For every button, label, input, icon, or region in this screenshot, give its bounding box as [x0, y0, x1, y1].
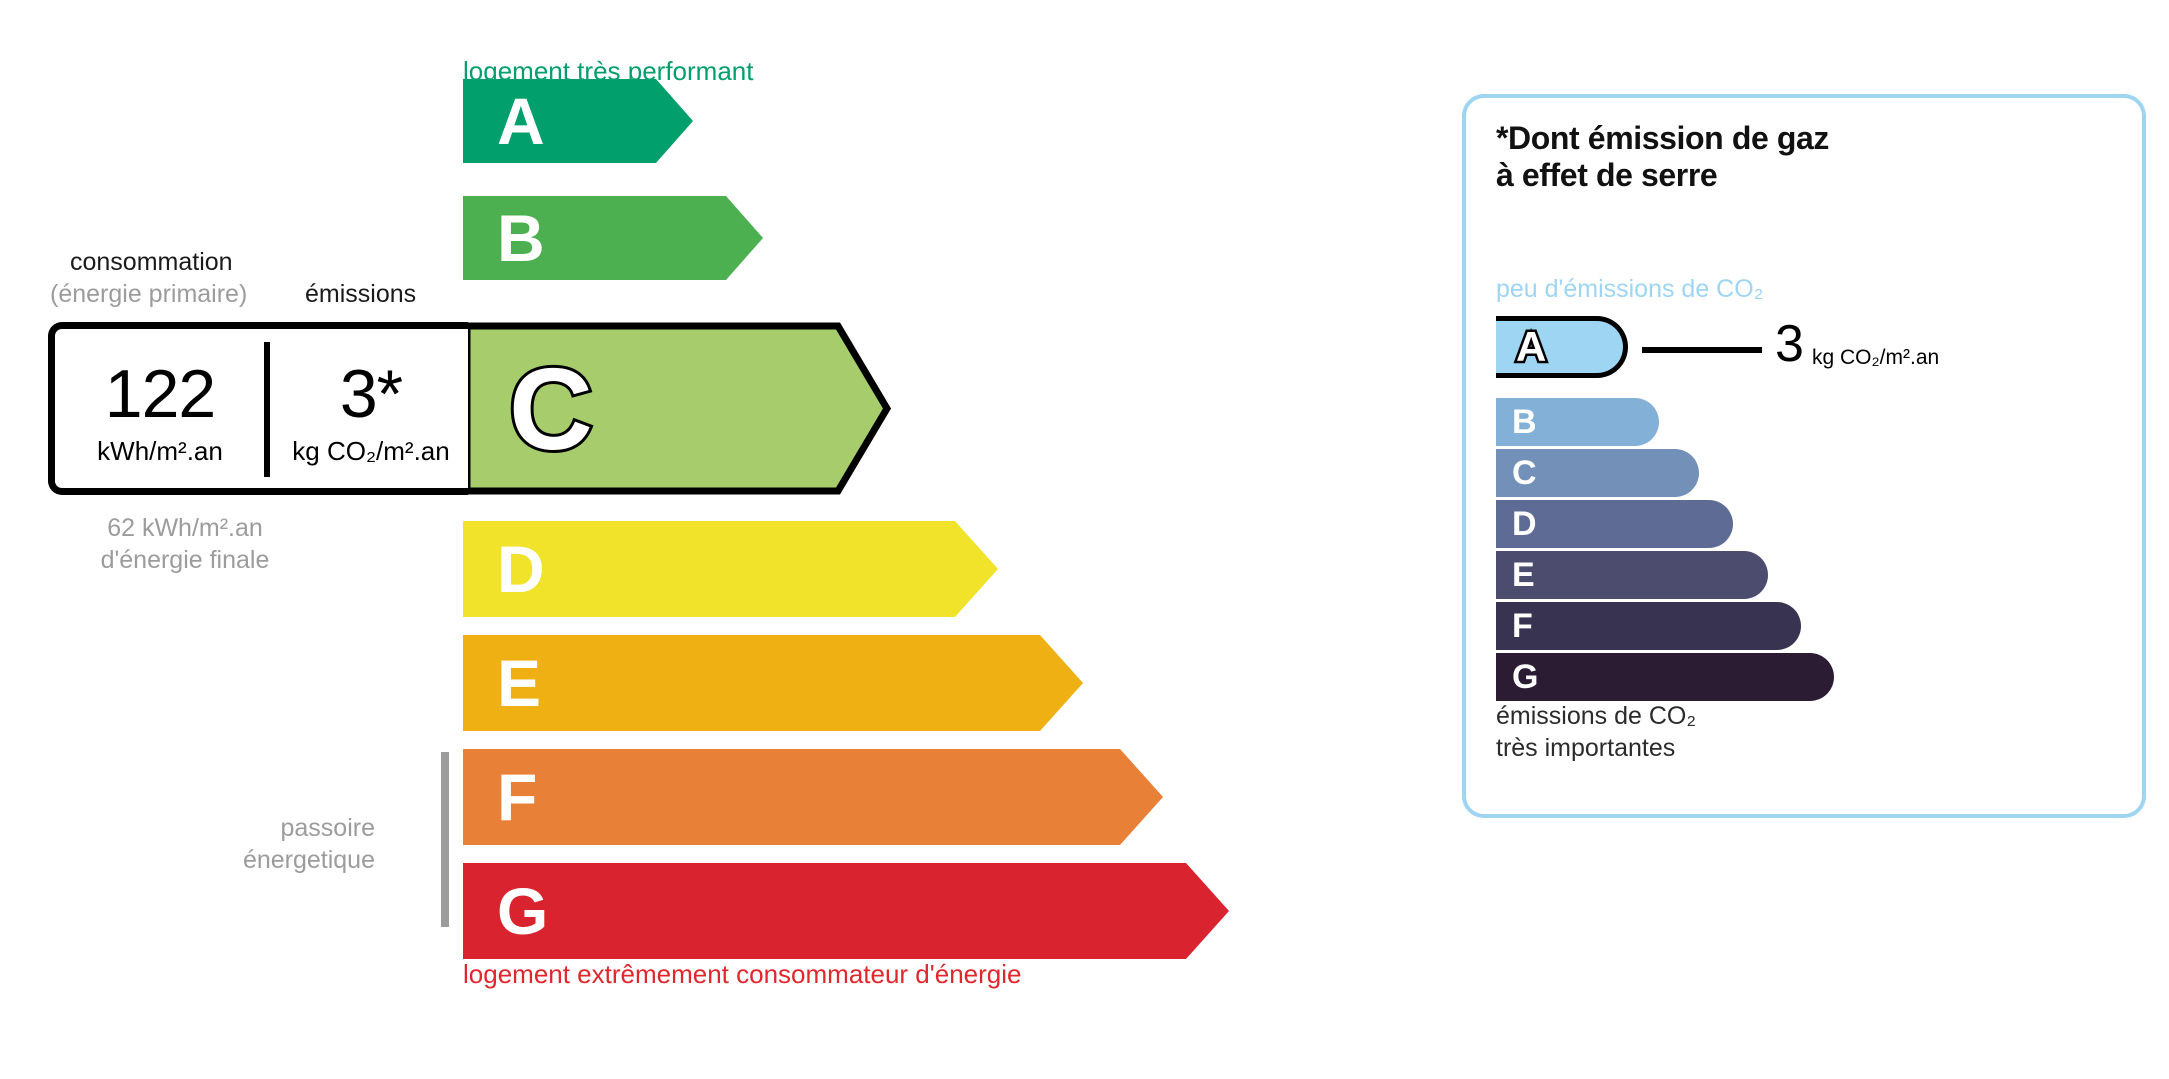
co2-title-line2: à effet de serre — [1496, 157, 1829, 194]
co2-panel-title: *Dont émission de gaz à effet de serre — [1496, 120, 1829, 194]
co2-row-a[interactable]: A — [1496, 316, 1628, 378]
co2-letter-b: B — [1512, 405, 1537, 439]
co2-letter-f: F — [1512, 609, 1533, 643]
energy-row-e[interactable]: E — [463, 635, 1083, 731]
co2-row-b[interactable]: B — [1496, 398, 1659, 446]
co2-bar-e — [1496, 551, 1768, 599]
co2-title-line1: *Dont émission de gaz — [1496, 120, 1829, 157]
consumption-value-cell: 122 kWh/m².an — [60, 360, 260, 464]
energy-row-d[interactable]: D — [463, 521, 998, 617]
co2-letter-d: D — [1512, 507, 1537, 541]
emissions-value: 3* — [276, 360, 466, 428]
energy-letter-f: F — [497, 764, 537, 830]
energy-row-g[interactable]: G — [463, 863, 1229, 959]
energy-row-c[interactable]: C — [463, 322, 893, 495]
co2-letter-a: A — [1516, 326, 1546, 368]
energy-row-b[interactable]: B — [463, 196, 763, 280]
energy-letter-e: E — [497, 650, 541, 716]
passoire-line1: passoire — [110, 812, 375, 844]
passoire-line2: énergetique — [110, 844, 375, 876]
co2-bar-f — [1496, 602, 1801, 650]
co2-row-g[interactable]: G — [1496, 653, 1834, 701]
final-energy-note: 62 kWh/m².an d'énergie finale — [60, 512, 310, 576]
bottom-caption: logement extrêmement consommateur d'éner… — [463, 959, 1021, 990]
consumption-value: 122 — [60, 360, 260, 428]
consumption-panel: consommation (énergie primaire) émission… — [0, 0, 470, 1079]
co2-top-caption: peu d'émissions de CO₂ — [1496, 275, 1763, 304]
co2-letter-c: C — [1512, 456, 1537, 490]
passoire-bracket — [441, 752, 449, 927]
co2-letter-e: E — [1512, 558, 1535, 592]
emissions-unit: kg CO₂/m².an — [276, 438, 466, 464]
co2-value-unit: kg CO₂/m².an — [1812, 347, 1939, 368]
consumption-sublabel: (énergie primaire) — [50, 280, 247, 309]
energy-letter-g: G — [497, 878, 548, 944]
consumption-unit: kWh/m².an — [60, 438, 260, 464]
co2-row-e[interactable]: E — [1496, 551, 1768, 599]
co2-row-d[interactable]: D — [1496, 500, 1733, 548]
energy-arrow-f — [463, 749, 1163, 845]
energy-arrow-e — [463, 635, 1083, 731]
emissions-label: émissions — [305, 280, 416, 309]
energy-arrow-g — [463, 863, 1229, 959]
co2-leader-line — [1642, 347, 1762, 353]
final-energy-line1: 62 kWh/m².an — [60, 512, 310, 544]
co2-bar-g — [1496, 653, 1834, 701]
energy-letter-c: C — [509, 351, 593, 467]
energy-letter-b: B — [497, 205, 545, 271]
co2-bottom-line2: très importantes — [1496, 732, 1696, 764]
energy-letter-a: A — [497, 88, 545, 154]
co2-row-f[interactable]: F — [1496, 602, 1801, 650]
consumption-label: consommation — [70, 248, 233, 277]
co2-row-c[interactable]: C — [1496, 449, 1699, 497]
co2-bottom-caption: émissions de CO₂ très importantes — [1496, 700, 1696, 764]
co2-bottom-line1: émissions de CO₂ — [1496, 700, 1696, 732]
value-box-divider — [264, 342, 270, 477]
energy-letter-d: D — [497, 536, 545, 602]
dpe-label: logement très performant A B — [0, 0, 2169, 1079]
co2-value: 3 — [1775, 318, 1804, 370]
passoire-note: passoire énergetique — [110, 812, 375, 876]
co2-letter-g: G — [1512, 660, 1538, 694]
final-energy-line2: d'énergie finale — [60, 544, 310, 576]
emissions-value-cell: 3* kg CO₂/m².an — [276, 360, 466, 464]
energy-row-a[interactable]: A — [463, 79, 693, 163]
energy-row-f[interactable]: F — [463, 749, 1163, 845]
